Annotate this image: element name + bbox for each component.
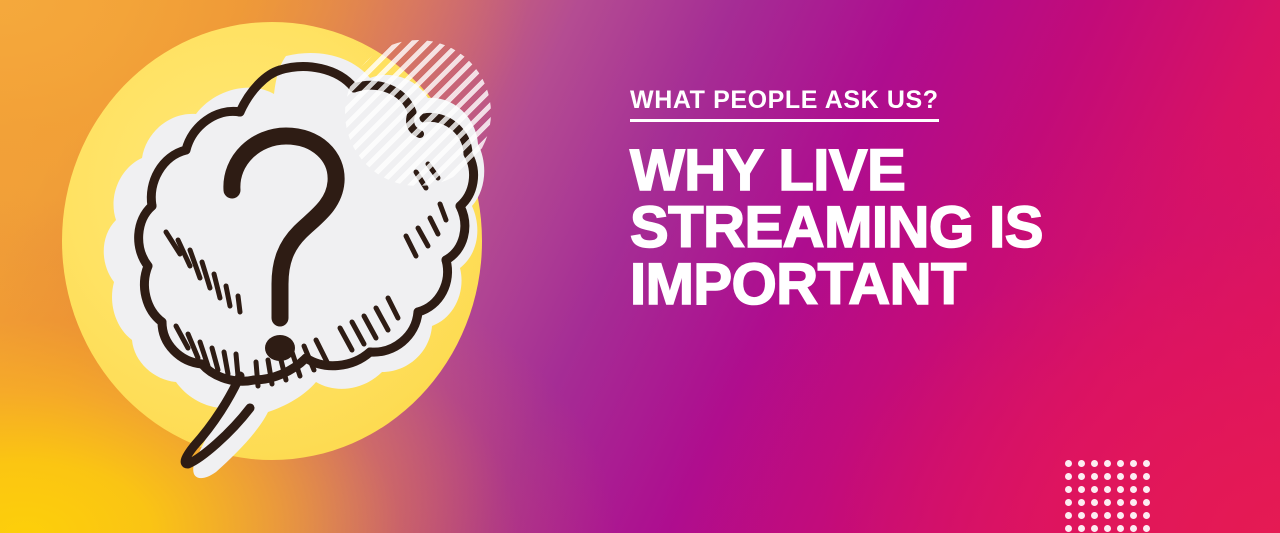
dot — [1063, 458, 1076, 471]
dot — [1141, 484, 1154, 497]
dot — [1076, 484, 1089, 497]
dot — [1141, 471, 1154, 484]
dot — [1063, 523, 1076, 533]
dot — [1076, 458, 1089, 471]
dot — [1063, 471, 1076, 484]
dot — [1115, 471, 1128, 484]
dot — [1076, 471, 1089, 484]
dot — [1063, 510, 1076, 523]
illustration-group — [0, 0, 540, 533]
question-mark-dot — [265, 335, 295, 361]
dot — [1089, 471, 1102, 484]
dot — [1128, 471, 1141, 484]
eyebrow-label: WHAT PEOPLE ASK US? — [630, 88, 939, 122]
dot — [1128, 523, 1141, 533]
text-block: WHAT PEOPLE ASK US? WHY LIVE STREAMING I… — [630, 88, 1230, 313]
promo-banner: WHAT PEOPLE ASK US? WHY LIVE STREAMING I… — [0, 0, 1280, 533]
dot — [1102, 458, 1115, 471]
dot — [1102, 484, 1115, 497]
dot — [1089, 510, 1102, 523]
dot — [1076, 523, 1089, 533]
dot — [1115, 458, 1128, 471]
dot — [1076, 510, 1089, 523]
dot — [1089, 523, 1102, 533]
headline-line-1: WHY LIVE — [630, 142, 1230, 199]
dot — [1128, 458, 1141, 471]
dot — [1076, 497, 1089, 510]
dot — [1115, 484, 1128, 497]
headline-line-2: STREAMING IS — [630, 199, 1230, 256]
dot — [1141, 523, 1154, 533]
dot — [1102, 510, 1115, 523]
dot — [1115, 497, 1128, 510]
page-title: WHY LIVE STREAMING IS IMPORTANT — [630, 142, 1230, 313]
dot — [1128, 484, 1141, 497]
dot — [1089, 458, 1102, 471]
dot — [1063, 497, 1076, 510]
dot — [1102, 497, 1115, 510]
dot — [1128, 510, 1141, 523]
dot — [1128, 497, 1141, 510]
dot — [1089, 484, 1102, 497]
dot — [1141, 458, 1154, 471]
dot — [1141, 497, 1154, 510]
dot-grid-decoration — [1063, 458, 1154, 533]
dot — [1141, 510, 1154, 523]
dot — [1089, 497, 1102, 510]
dot — [1063, 484, 1076, 497]
striped-circle-accent — [345, 40, 491, 186]
dot — [1115, 510, 1128, 523]
dot — [1102, 471, 1115, 484]
dot — [1115, 523, 1128, 533]
headline-line-3: IMPORTANT — [630, 256, 1230, 313]
dot — [1102, 523, 1115, 533]
